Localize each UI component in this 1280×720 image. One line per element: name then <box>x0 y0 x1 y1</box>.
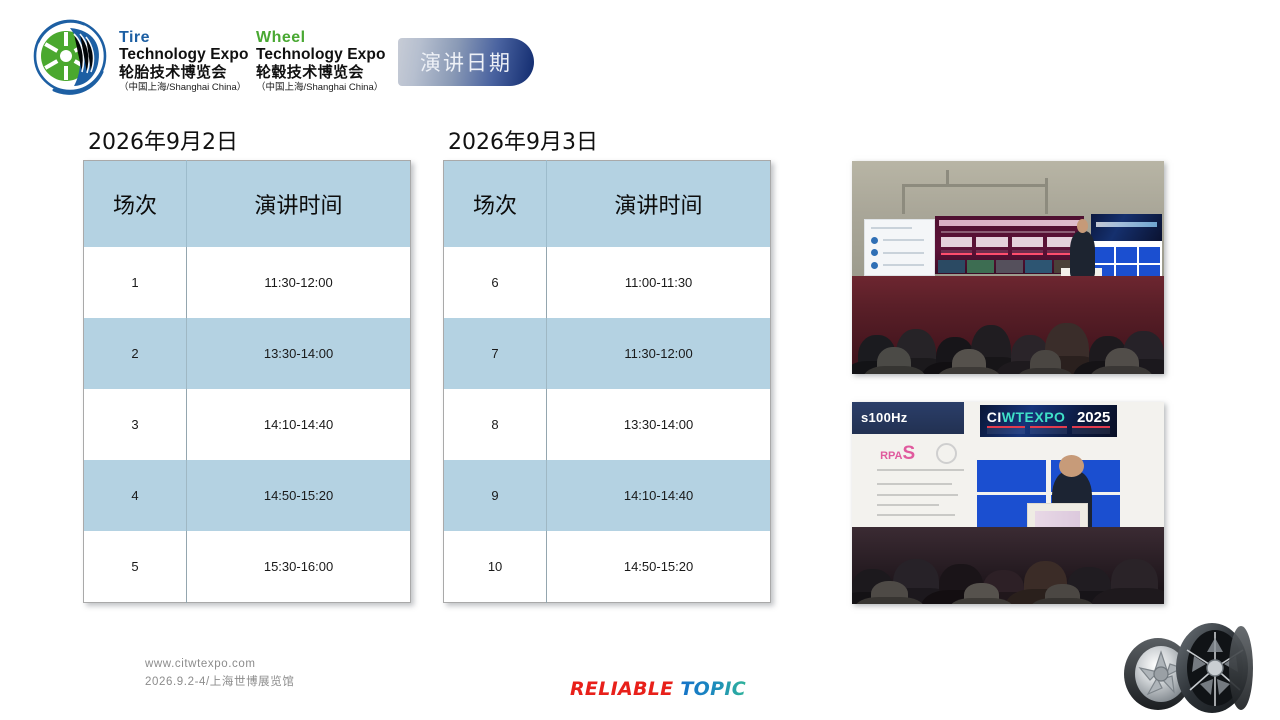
wheel-logo-line2: Technology Expo <box>256 46 386 64</box>
cell-session: 7 <box>444 318 547 389</box>
cell-time: 15:30-16:00 <box>187 531 411 603</box>
left-slide-panel <box>864 219 935 276</box>
table-row[interactable]: 3 14:10-14:40 <box>84 389 411 460</box>
schedule-date-heading-2: 2026年9月3日 <box>448 124 598 156</box>
column-header-session: 场次 <box>84 161 187 248</box>
schedule-date-heading-1: 2026年9月2日 <box>88 124 238 156</box>
main-presentation-screen <box>935 216 1085 274</box>
ceiling-pipe <box>902 184 1046 187</box>
schedule-table-1-wrap: 场次 演讲时间 1 11:30-12:00 2 13:30-14:00 3 14… <box>83 160 411 603</box>
alloy-wheels-icon <box>1112 618 1262 714</box>
cell-session: 10 <box>444 531 547 603</box>
wheel-logo-line4: （中国上海/Shanghai China） <box>256 82 386 94</box>
tire-logo-line3: 轮胎技术博览会 <box>119 64 249 82</box>
table-row[interactable]: 7 11:30-12:00 <box>444 318 771 389</box>
cell-time: 11:30-12:00 <box>547 318 771 389</box>
cell-time: 14:50-15:20 <box>547 531 771 603</box>
cell-session: 8 <box>444 389 547 460</box>
audience-area <box>852 527 1164 604</box>
column-header-time: 演讲时间 <box>547 161 771 248</box>
tire-wheel-emblem-icon <box>24 16 116 96</box>
table-row[interactable]: 10 14:50-15:20 <box>444 531 771 603</box>
section-title-badge: 演讲日期 <box>398 38 534 86</box>
table-row[interactable]: 2 13:30-14:00 <box>84 318 411 389</box>
wheel-logo-line1: Wheel <box>256 29 386 46</box>
cell-session: 1 <box>84 247 187 318</box>
schedule-table-2: 场次 演讲时间 6 11:00-11:30 7 11:30-12:00 8 13… <box>443 160 771 603</box>
expo-banner-year: 2025 <box>1077 409 1110 426</box>
presenter-head <box>1059 455 1084 477</box>
footer-venue: 2026.9.2-4/上海世博展览馆 <box>145 673 294 691</box>
ceiling-pipe <box>946 170 949 187</box>
conference-audience-photo <box>852 161 1164 374</box>
cell-session: 6 <box>444 247 547 318</box>
circle-mark-icon <box>936 443 957 464</box>
photo-scene: s100Hz RPAS CIWTEXPO 2025 <box>852 402 1164 604</box>
sponsor-word-topic: TOPIC <box>680 678 746 700</box>
page-header: Tire Technology Expo 轮胎技术博览会 （中国上海/Shang… <box>0 0 1280 110</box>
tire-logo-line2: Technology Expo <box>119 46 249 64</box>
table-header-row: 场次 演讲时间 <box>84 161 411 248</box>
cell-time: 14:50-15:20 <box>187 460 411 531</box>
table-header-row: 场次 演讲时间 <box>444 161 771 248</box>
rpa-label: RPAS <box>880 443 915 465</box>
tire-logo-line1: Tire <box>119 29 249 46</box>
tire-expo-logo: Tire Technology Expo 轮胎技术博览会 （中国上海/Shang… <box>119 29 249 94</box>
table-row[interactable]: 4 14:50-15:20 <box>84 460 411 531</box>
cell-time: 13:30-14:00 <box>547 389 771 460</box>
cell-session: 2 <box>84 318 187 389</box>
cell-session: 5 <box>84 531 187 603</box>
cell-time: 13:30-14:00 <box>187 318 411 389</box>
cell-time: 14:10-14:40 <box>187 389 411 460</box>
table-row[interactable]: 6 11:00-11:30 <box>444 247 771 318</box>
expo-screen-banner: CIWTEXPO 2025 <box>980 405 1117 437</box>
cell-session: 3 <box>84 389 187 460</box>
cell-time: 11:30-12:00 <box>187 247 411 318</box>
footer-info: www.citwtexpo.com 2026.9.2-4/上海世博展览馆 <box>145 655 294 691</box>
presentation-whiteboard: s100Hz RPAS CIWTEXPO 2025 <box>852 402 1164 547</box>
presenter-podium-photo: s100Hz RPAS CIWTEXPO 2025 <box>852 402 1164 604</box>
table-row[interactable]: 8 13:30-14:00 <box>444 389 771 460</box>
audience-area <box>852 276 1164 374</box>
cell-time: 11:00-11:30 <box>547 247 771 318</box>
column-header-time: 演讲时间 <box>187 161 411 248</box>
cell-session: 4 <box>84 460 187 531</box>
schedule-table-1: 场次 演讲时间 1 11:30-12:00 2 13:30-14:00 3 14… <box>83 160 411 603</box>
ceiling-pipe <box>1045 178 1048 214</box>
schedule-table-2-wrap: 场次 演讲时间 6 11:00-11:30 7 11:30-12:00 8 13… <box>443 160 771 603</box>
sponsor-logo: RELIABLE TOPIC <box>570 678 746 700</box>
column-header-session: 场次 <box>444 161 547 248</box>
sponsor-word-reliable: RELIABLE <box>570 678 673 700</box>
table-row[interactable]: 9 14:10-14:40 <box>444 460 771 531</box>
speaker-figure <box>1070 231 1095 278</box>
wheel-logo-line3: 轮毂技术博览会 <box>256 64 386 82</box>
footer-website[interactable]: www.citwtexpo.com <box>145 655 294 673</box>
ceiling-pipe <box>902 184 905 214</box>
cell-time: 14:10-14:40 <box>547 460 771 531</box>
wheel-expo-logo: Wheel Technology Expo 轮毂技术博览会 （中国上海/Shan… <box>256 29 386 94</box>
section-title-label: 演讲日期 <box>420 47 512 77</box>
table-row[interactable]: 1 11:30-12:00 <box>84 247 411 318</box>
cell-session: 9 <box>444 460 547 531</box>
table-row[interactable]: 5 15:30-16:00 <box>84 531 411 603</box>
slide-header-bar: s100Hz <box>852 402 964 434</box>
tire-logo-line4: （中国上海/Shanghai China） <box>119 82 249 94</box>
slide-header-text: s100Hz <box>861 410 908 425</box>
photo-scene <box>852 161 1164 374</box>
